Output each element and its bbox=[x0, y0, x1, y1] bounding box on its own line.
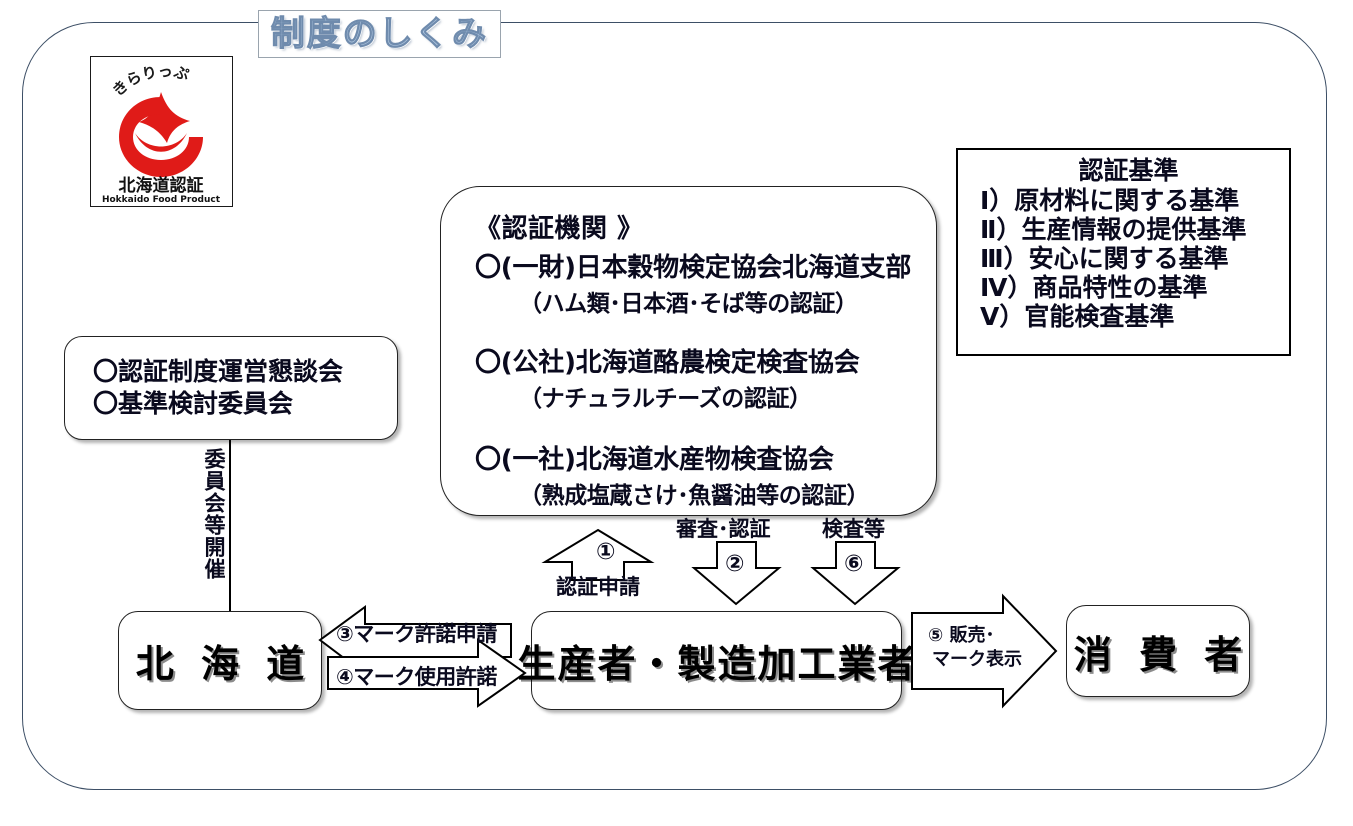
council-line: 〇基準検討委員会 bbox=[93, 388, 397, 421]
flow-number-6: ⑥ bbox=[844, 552, 863, 577]
standards-item: Ⅱ）生産情報の提供基準 bbox=[958, 215, 1289, 244]
certification-body-name: 〇(一社)北海道水産物検査協会 bbox=[475, 439, 920, 476]
certification-body-name: 〇(公社)北海道酪農検定検査協会 bbox=[475, 342, 920, 379]
actor-label-producer: 生産者・製造加工業者 bbox=[516, 633, 918, 688]
certification-body-item: 〇(一社)北海道水産物検査協会 （熟成塩蔵さけ･魚醤油等の認証） bbox=[475, 439, 920, 510]
logo-sublabel: Hokkaido Food Product bbox=[102, 195, 221, 205]
flow-label-2: 審査･認証 bbox=[676, 518, 771, 541]
council-line: 〇認証制度運営懇談会 bbox=[93, 356, 397, 389]
flow-label-5-line1: ⑤ 販売･ bbox=[928, 625, 995, 646]
certification-bodies-box: 《認証機関 》 〇(一財)日本穀物検定協会北海道支部 （ハム類･日本酒･そば等の… bbox=[440, 186, 937, 516]
flow-label-5: ⑤ 販売･ マーク表示 bbox=[928, 624, 1022, 673]
standards-item: Ⅲ）安心に関する基準 bbox=[958, 244, 1289, 273]
diagram-canvas: 制度のしくみ きらりっぷ 北海道認証 Hokkaido Food Product… bbox=[0, 0, 1353, 826]
standards-title: 認証基準 bbox=[958, 156, 1289, 186]
certification-body-scope: （ナチュラルチーズの認証） bbox=[475, 379, 920, 413]
council-connector-line bbox=[229, 440, 231, 612]
flow-number-2: ② bbox=[725, 552, 744, 577]
diagram-title-box: 制度のしくみ bbox=[258, 10, 501, 58]
actor-box-producer: 生産者・製造加工業者 bbox=[531, 611, 902, 710]
certification-body-item: 〇(公社)北海道酪農検定検査協会 （ナチュラルチーズの認証） bbox=[475, 342, 920, 413]
flow-label-5-line2: マーク表示 bbox=[928, 648, 1022, 672]
flow-label-4: ④マーク使用許諾 bbox=[336, 666, 497, 689]
certification-body-item: 〇(一財)日本穀物検定協会北海道支部 （ハム類･日本酒･そば等の認証） bbox=[475, 247, 920, 318]
logo-label: 北海道認証 bbox=[119, 175, 204, 196]
certification-body-scope: （熟成塩蔵さけ･魚醤油等の認証） bbox=[475, 476, 920, 510]
actor-label-consumer: 消 費 者 bbox=[1067, 624, 1249, 679]
certification-body-scope: （ハム類･日本酒･そば等の認証） bbox=[475, 284, 920, 318]
page-title: 制度のしくみ bbox=[271, 17, 488, 51]
standards-item: Ⅳ）商品特性の基準 bbox=[958, 273, 1289, 302]
certification-standards-box: 認証基準 Ⅰ）原材料に関する基準 Ⅱ）生産情報の提供基準 Ⅲ）安心に関する基準 … bbox=[956, 148, 1291, 356]
certification-body-name: 〇(一財)日本穀物検定協会北海道支部 bbox=[475, 247, 920, 284]
actor-box-consumer: 消 費 者 bbox=[1066, 605, 1250, 697]
flow-label-1: 認証申請 bbox=[556, 576, 640, 599]
hokkaido-food-product-mark-icon: きらりっぷ 北海道認証 Hokkaido Food Product bbox=[91, 57, 231, 205]
actor-box-hokkaido: 北 海 道 bbox=[118, 611, 322, 710]
standards-item: Ⅴ）官能検査基準 bbox=[958, 302, 1289, 331]
council-box: 〇認証制度運営懇談会 〇基準検討委員会 bbox=[64, 336, 398, 440]
council-connector-label: 委員会等開催 bbox=[196, 448, 224, 580]
flow-label-3: ③マーク許諾申請 bbox=[336, 623, 497, 646]
flow-number-1: ① bbox=[596, 540, 615, 565]
standards-item: Ⅰ）原材料に関する基準 bbox=[958, 186, 1289, 215]
flow-label-6: 検査等 bbox=[822, 518, 885, 541]
actor-label-hokkaido: 北 海 道 bbox=[129, 633, 311, 688]
certification-bodies-heading: 《認証機関 》 bbox=[475, 208, 920, 245]
certification-mark-logo: きらりっぷ 北海道認証 Hokkaido Food Product bbox=[90, 56, 233, 207]
svg-text:きらりっぷ: きらりっぷ bbox=[109, 62, 191, 99]
